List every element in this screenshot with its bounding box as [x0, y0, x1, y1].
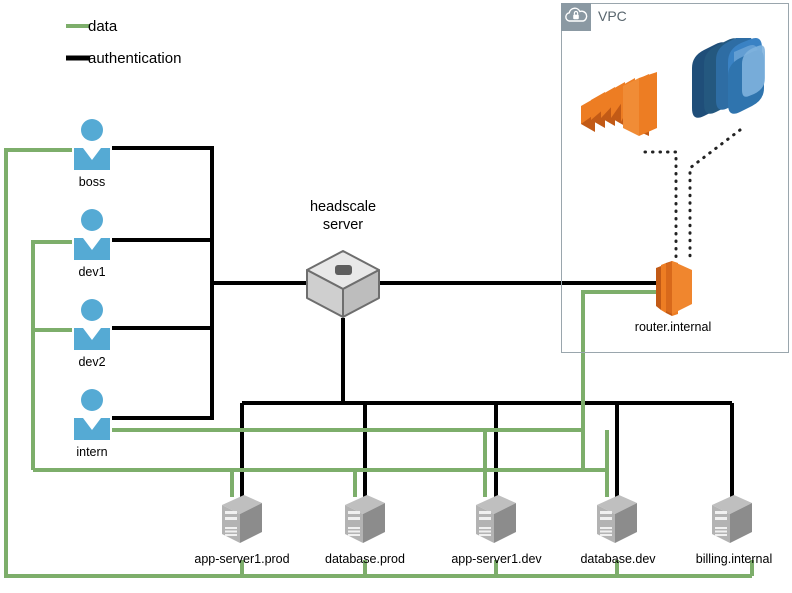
- server-label-database-dev: database.dev: [563, 552, 673, 567]
- cube-server-icon[interactable]: [303, 248, 383, 325]
- aws-ec2-instances-icon[interactable]: [573, 62, 665, 155]
- router-label: router.internal: [598, 320, 748, 335]
- vpc-icon-tab: [561, 3, 591, 31]
- server-icon-database-dev[interactable]: [593, 491, 641, 554]
- server-label-app-server1-dev: app-server1.dev: [434, 552, 559, 567]
- server-label-app-server1-prod: app-server1.prod: [177, 552, 307, 567]
- vpc-cloud-lock-icon: [561, 3, 591, 31]
- server-icon-database-prod[interactable]: [341, 491, 389, 554]
- user-label-dev1: dev1: [42, 265, 142, 280]
- user-icon-boss[interactable]: [72, 118, 112, 175]
- headscale-label-line1: headscale: [283, 198, 403, 216]
- user-label-boss: boss: [42, 175, 142, 190]
- server-icon-billing-internal[interactable]: [708, 491, 756, 554]
- server-icon-app-server1-dev[interactable]: [472, 491, 520, 554]
- user-icon-dev2[interactable]: [72, 298, 112, 355]
- server-label-billing-internal: billing.internal: [676, 552, 792, 567]
- user-icon-intern[interactable]: [72, 388, 112, 445]
- user-icon-dev1[interactable]: [72, 208, 112, 265]
- user-label-intern: intern: [42, 445, 142, 460]
- headscale-label-line2: server: [283, 216, 403, 234]
- vpc-title: VPC: [598, 8, 627, 24]
- aws-database-icon[interactable]: [682, 38, 772, 139]
- legend-swatch-data: [66, 22, 90, 30]
- legend-label-authentication: authentication: [88, 50, 181, 67]
- legend-label-data: data: [88, 18, 117, 35]
- user-label-dev2: dev2: [42, 355, 142, 370]
- diagram-canvas: data authentication VPC: [0, 0, 792, 593]
- server-label-database-prod: database.prod: [305, 552, 425, 567]
- aws-router-icon[interactable]: [648, 258, 700, 323]
- server-icon-app-server1-prod[interactable]: [218, 491, 266, 554]
- legend-swatch-authentication: [66, 54, 90, 62]
